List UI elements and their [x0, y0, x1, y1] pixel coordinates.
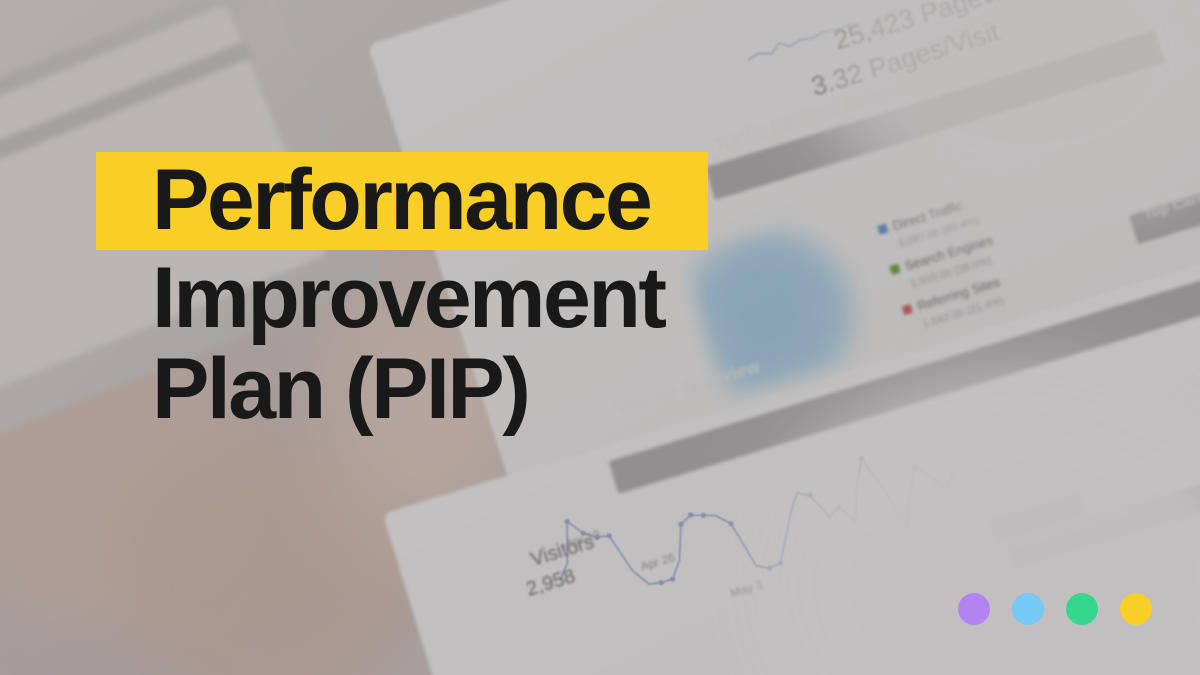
title-line-2: Improvement — [96, 250, 896, 340]
dot-blue — [1012, 593, 1044, 625]
title-line-3: Plan (PIP) — [96, 341, 896, 431]
color-dot-row — [958, 593, 1152, 625]
dot-yellow — [1120, 593, 1152, 625]
title-block: Performance Improvement Plan (PIP) — [96, 152, 896, 431]
dot-green — [1066, 593, 1098, 625]
dot-purple — [958, 593, 990, 625]
slide-canvas: 25,423 Pageviews 3.32 Pages/Visit Traffi… — [0, 0, 1200, 675]
title-line-1-highlighted: Performance — [96, 152, 708, 250]
